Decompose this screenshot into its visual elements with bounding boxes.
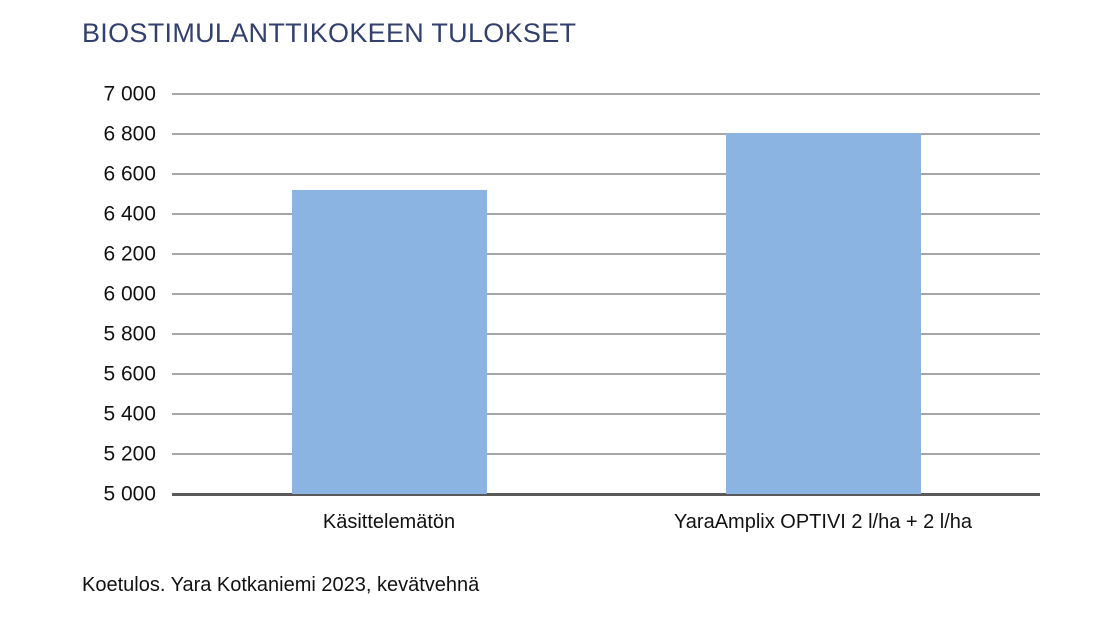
y-axis-tick-label: 5 800: [6, 324, 156, 345]
bars-layer: [172, 94, 1040, 494]
y-axis-tick-label: 5 600: [6, 364, 156, 385]
y-axis-tick-label: 6 800: [6, 124, 156, 145]
bar: [726, 133, 921, 494]
x-axis-category-label: YaraAmplix OPTIVI 2 l/ha + 2 l/ha: [674, 511, 972, 534]
y-axis-tick-label: 5 200: [6, 444, 156, 465]
chart-footnote: Koetulos. Yara Kotkaniemi 2023, kevätveh…: [82, 574, 479, 597]
y-axis-tick-label: 6 000: [6, 284, 156, 305]
y-axis-tick-label: 5 000: [6, 484, 156, 505]
y-axis-tick-label: 6 200: [6, 244, 156, 265]
bar: [292, 190, 487, 494]
y-axis-labels: 7 0006 8006 6006 4006 2006 0005 8005 600…: [0, 0, 156, 642]
x-axis-category-label: Käsittelemätön: [323, 511, 455, 534]
y-axis-tick-label: 6 600: [6, 164, 156, 185]
y-axis-tick-label: 5 400: [6, 404, 156, 425]
page-title: BIOSTIMULANTTIKOKEEN TULOKSET: [82, 18, 576, 49]
y-axis-tick-label: 6 400: [6, 204, 156, 225]
y-axis-tick-label: 7 000: [6, 84, 156, 105]
